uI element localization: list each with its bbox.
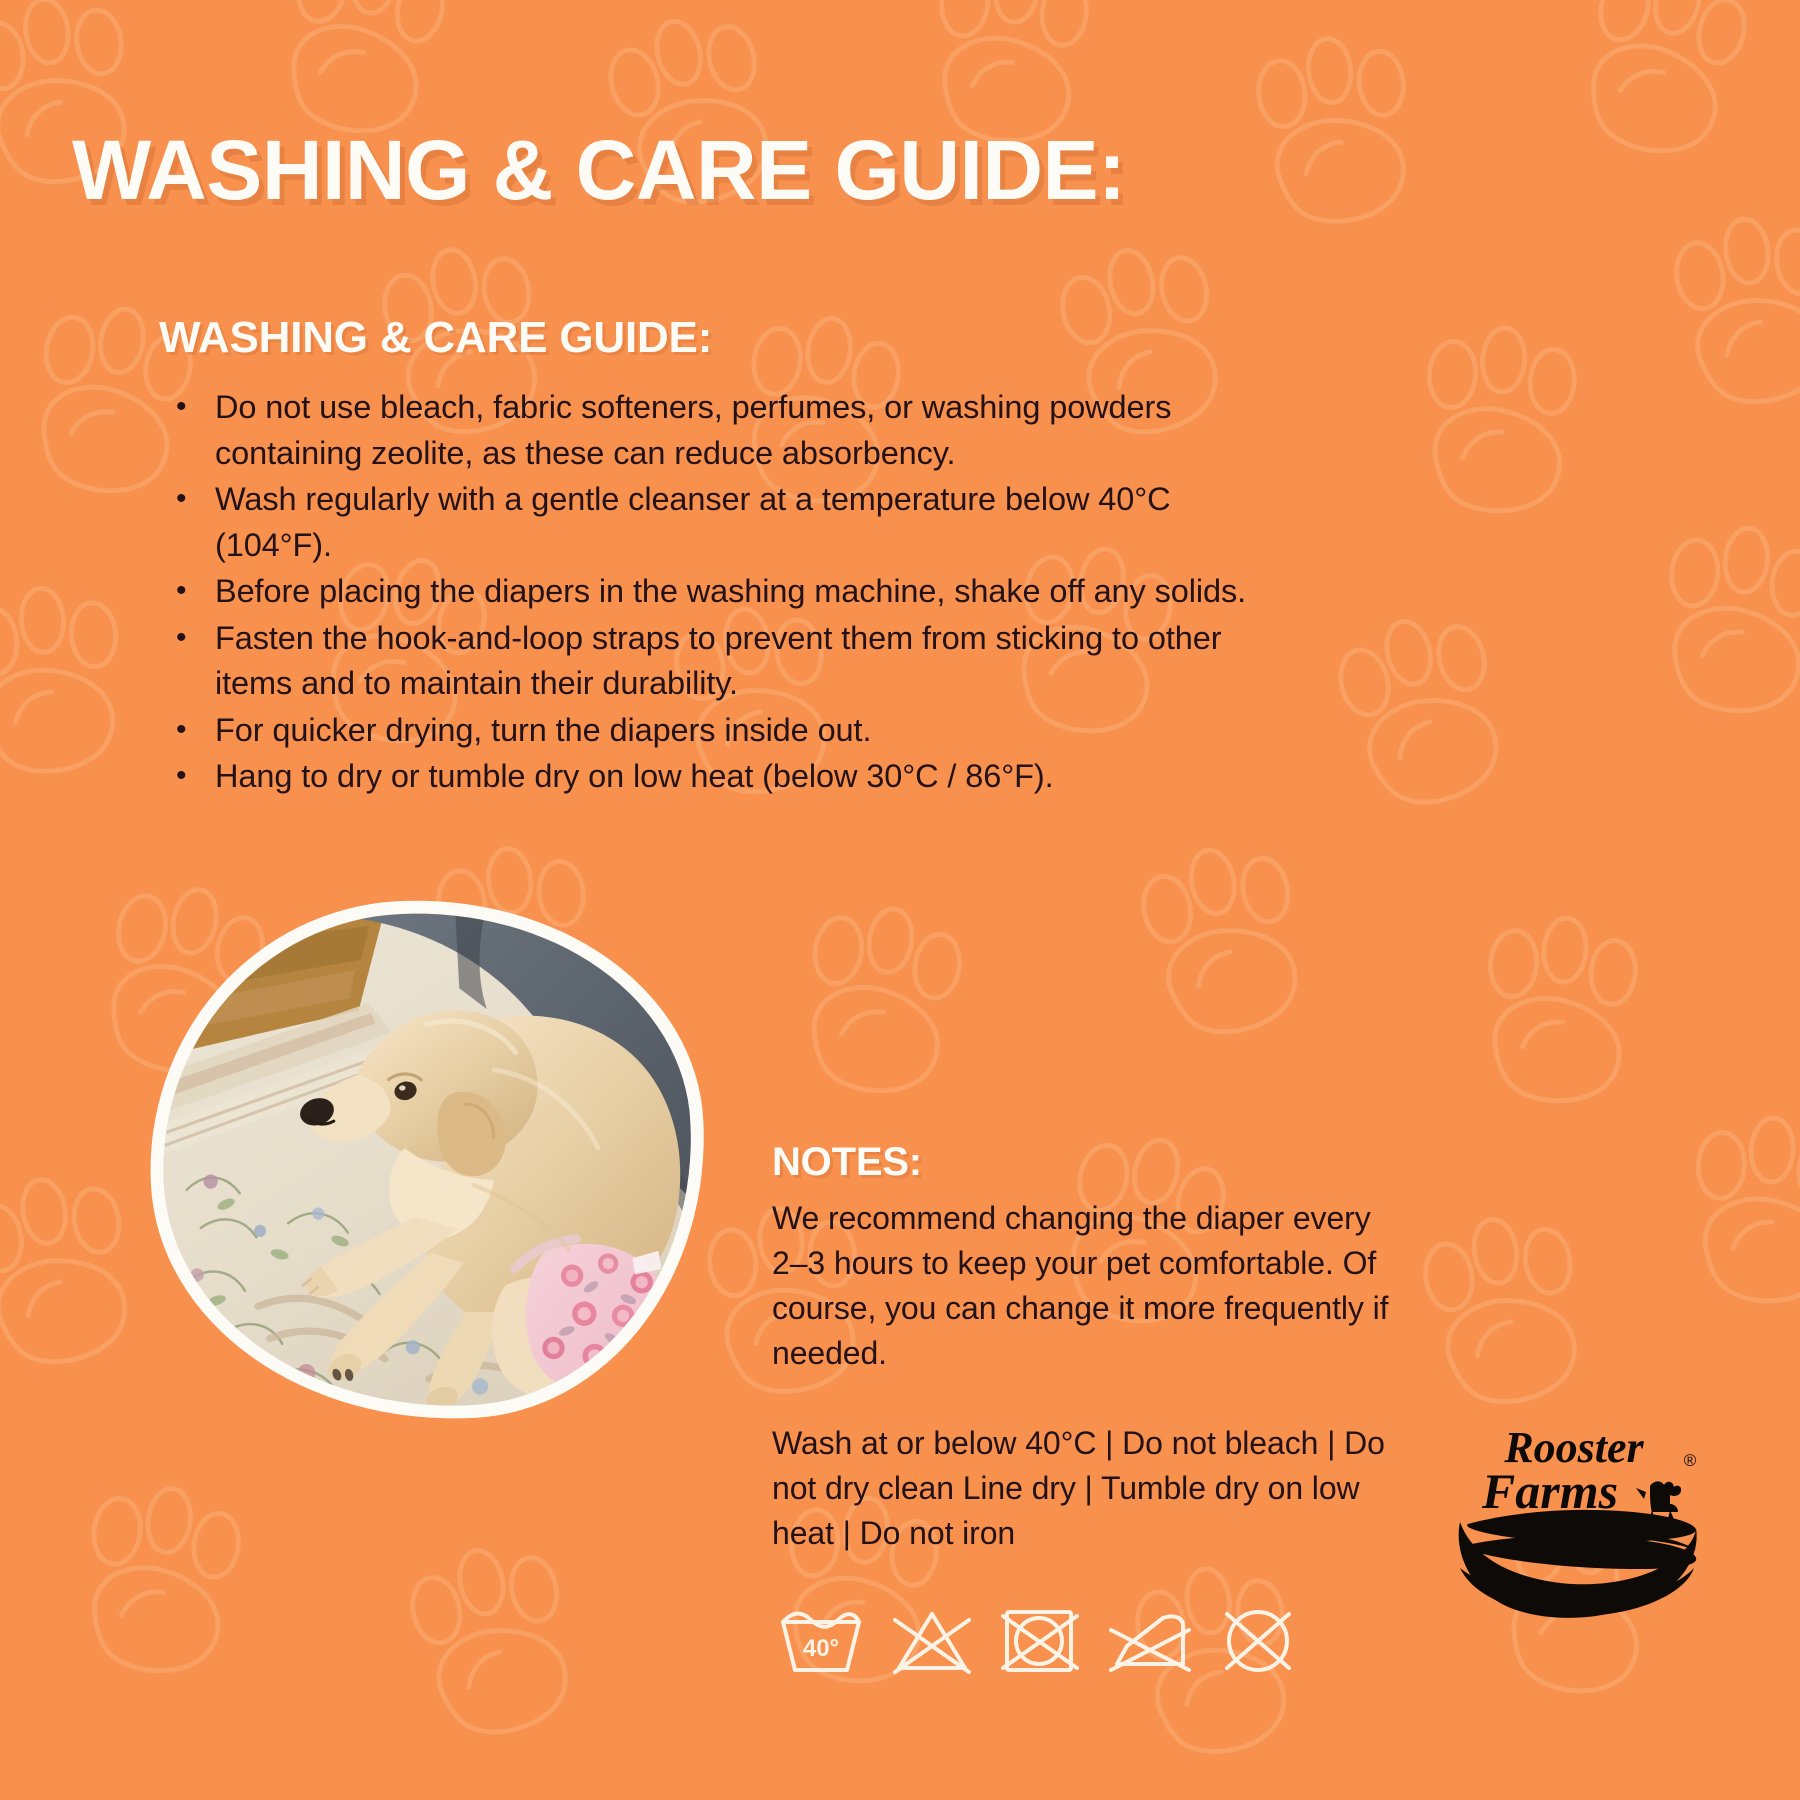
list-item: Hang to dry or tumble dry on low heat (b… bbox=[168, 754, 1258, 800]
field-emblem-icon bbox=[1458, 1508, 1696, 1618]
photo-image bbox=[150, 899, 704, 1420]
care-instructions-list: Do not use bleach, fabric softeners, per… bbox=[168, 385, 1258, 801]
notes-body: We recommend changing the diaper every 2… bbox=[772, 1196, 1412, 1556]
laundry-care-symbols: 40° bbox=[775, 1600, 1299, 1680]
wash-40-icon: 40° bbox=[775, 1600, 867, 1680]
list-item: Fasten the hook-and-loop straps to preve… bbox=[168, 616, 1258, 707]
list-item: For quicker drying, turn the diapers ins… bbox=[168, 708, 1258, 754]
notes-paragraph-care-summary: Wash at or below 40°C | Do not bleach | … bbox=[772, 1421, 1412, 1556]
notes-heading: NOTES: bbox=[772, 1140, 922, 1185]
notes-paragraph-recommendation: We recommend changing the diaper every 2… bbox=[772, 1196, 1412, 1376]
do-not-bleach-icon bbox=[889, 1600, 975, 1680]
page-title: WASHING & CARE GUIDE: bbox=[72, 122, 1126, 219]
do-not-dry-clean-icon bbox=[1217, 1600, 1299, 1680]
photo-blob-frame bbox=[137, 886, 718, 1434]
list-item: Before placing the diapers in the washin… bbox=[168, 569, 1258, 615]
list-item: Do not use bleach, fabric softeners, per… bbox=[168, 385, 1258, 476]
care-guide-page: WASHING & CARE GUIDE: WASHING & CARE GUI… bbox=[0, 0, 1800, 1800]
section-heading-washing-care: WASHING & CARE GUIDE: bbox=[159, 313, 712, 363]
wash-temperature-label: 40° bbox=[803, 1635, 839, 1662]
brand-logo-rooster-farms: Rooster Farms ® bbox=[1378, 1400, 1708, 1630]
do-not-tumble-dry-icon bbox=[997, 1600, 1083, 1680]
dog-photo bbox=[150, 900, 705, 1420]
logo-trademark: ® bbox=[1684, 1451, 1697, 1470]
list-item: Wash regularly with a gentle cleanser at… bbox=[168, 477, 1258, 568]
do-not-iron-icon bbox=[1105, 1600, 1195, 1680]
